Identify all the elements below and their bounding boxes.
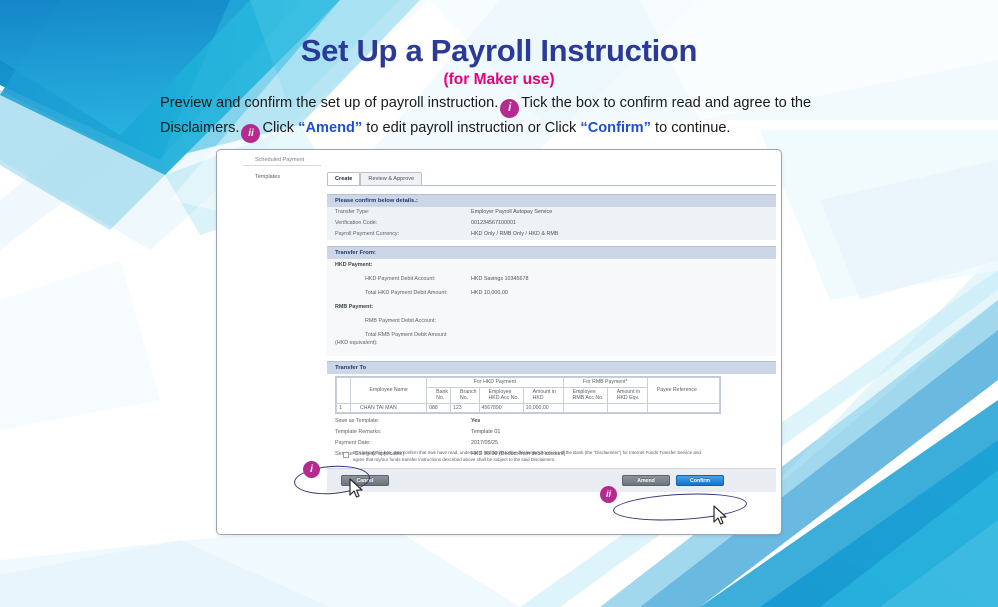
employee-hkd-acc-header: Employee HKD Acc No.	[479, 387, 523, 403]
transfer-to-heading: Transfer To	[327, 361, 776, 374]
save-as-template-label: Save as Template:	[335, 418, 379, 424]
annotation-badge-ii: ii	[600, 486, 617, 503]
employee-rmb-acc-header: Employee RMB Acc No.	[563, 387, 607, 403]
sidebar-divider	[243, 165, 321, 166]
annotation-badge-i: i	[303, 461, 320, 478]
instruction-text: Preview and confirm the set up of payrol…	[160, 93, 850, 143]
payee-reference-cell	[647, 403, 719, 412]
mouse-cursor-confirm	[712, 505, 730, 527]
tab-bar: CreateReview & Approve	[327, 172, 422, 186]
instruction-line2-part1: Disclaimers.	[160, 120, 239, 136]
tab-create[interactable]: Create	[327, 172, 360, 186]
page-subtitle: (for Maker use)	[0, 71, 998, 89]
disclaimer-checkbox[interactable]	[343, 452, 349, 458]
amount-hkd-eqv-header: Amount in HKD Eqv.	[607, 387, 647, 403]
total-hkd-debit-amount-label: Total HKD Payment Debit Amount:	[365, 290, 447, 296]
amend-keyword: “Amend”	[298, 120, 362, 136]
mouse-cursor-checkbox	[348, 478, 366, 500]
for-hkd-payment-header: For HKD Payment	[427, 378, 563, 388]
employee-name-header: Employee Name	[351, 378, 427, 404]
verification-code-value: 001234567100001	[471, 220, 516, 226]
confirm-details-heading: Please confirm below details.:	[327, 194, 776, 207]
instruction-line1-part1: Preview and confirm the set up of payrol…	[160, 95, 498, 111]
employee-hkd-acc-cell: 4567890	[479, 403, 523, 412]
hkd-debit-account-label: HKD Payment Debit Account:	[365, 276, 435, 282]
save-as-template-value: Yes	[471, 418, 480, 424]
payee-reference-header: Payee Reference	[647, 378, 719, 404]
total-rmb-debit-amount-label2: (HKD equivalent):	[335, 340, 378, 346]
payroll-currency-value: HKD Only / RMB Only / HKD & RMB	[471, 231, 558, 237]
payment-date-label: Payment Date:	[335, 440, 371, 446]
rmb-payment-group-label: RMB Payment:	[335, 304, 373, 310]
sidebar-item-templates[interactable]: Templates	[255, 174, 280, 180]
employee-name-cell: CHAN TAI MAN	[351, 403, 427, 412]
table-row: 1 CHAN TAI MAN 088 123 4567890 10,000.00	[337, 403, 720, 412]
instruction-line2-part3: to edit payroll instruction or Click	[366, 120, 576, 136]
employee-rmb-acc-cell	[563, 403, 607, 412]
hkd-payment-group-label: HKD Payment:	[335, 262, 372, 268]
amount-hkd-eqv-cell	[607, 403, 647, 412]
confirm-button[interactable]: Confirm	[676, 475, 724, 486]
amend-button[interactable]: Amend	[622, 475, 670, 486]
confirm-keyword: “Confirm”	[580, 120, 651, 136]
template-remarks-label: Template Remarks:	[335, 429, 381, 435]
branch-no-header: Branch No.	[451, 387, 479, 403]
bank-no-cell: 088	[427, 403, 451, 412]
step-badge-ii: ii	[241, 124, 260, 143]
step-badge-i: i	[500, 99, 519, 118]
page-header: Set Up a Payroll Instruction (for Maker …	[0, 34, 998, 89]
transfer-from-band	[327, 259, 776, 356]
transfer-type-value: Employer Payroll Autopay Service	[471, 209, 552, 215]
branch-no-cell: 123	[451, 403, 479, 412]
transfer-type-label: Transfer Type:	[335, 209, 369, 215]
instruction-line1-part2: Tick the box to confirm read and agree t…	[521, 95, 811, 111]
page-title: Set Up a Payroll Instruction	[0, 34, 998, 68]
transfer-to-table: Employee Name For HKD Payment For RMB Pa…	[335, 376, 721, 414]
for-rmb-payment-header: For RMB Payment*	[563, 378, 647, 388]
rmb-debit-account-label: RMB Payment Debit Account:	[365, 318, 436, 324]
action-button-bar: Cancel Amend Confirm	[327, 468, 776, 492]
tab-review-approve[interactable]: Review & Approve	[360, 172, 422, 186]
transfer-from-heading: Transfer From:	[327, 246, 776, 259]
total-rmb-debit-amount-label: Total RMB Payment Debit Amount	[365, 332, 447, 338]
bank-no-header: Bank No.	[427, 387, 451, 403]
disclaimer-text: By clicking this box, I/we confirm that …	[353, 450, 713, 463]
table-group-header-row: Employee Name For HKD Payment For RMB Pa…	[337, 378, 720, 388]
tab-underline	[327, 185, 776, 186]
app-content: CreateReview & Approve Please confirm be…	[321, 150, 781, 534]
payment-date-value: 2017/05/25	[471, 440, 498, 446]
verification-code-label: Verification Code:	[335, 220, 377, 226]
total-hkd-debit-amount-value: HKD 10,000.00	[471, 290, 508, 296]
amount-hkd-header: Amount in HKD	[523, 387, 563, 403]
row-index-header	[337, 378, 351, 404]
amount-hkd-cell: 10,000.00	[523, 403, 563, 412]
payroll-currency-label: Payroll Payment Currency:	[335, 231, 399, 237]
hkd-debit-account-value: HKD Savings 10345678	[471, 276, 529, 282]
instruction-line2-part2: Click	[262, 120, 294, 136]
row-index-cell: 1	[337, 403, 351, 412]
sidebar-item-scheduled-payment[interactable]: Scheduled Payment	[255, 157, 304, 163]
template-remarks-value: Template 01	[471, 429, 500, 435]
instruction-line2-part4: to continue.	[655, 120, 730, 136]
